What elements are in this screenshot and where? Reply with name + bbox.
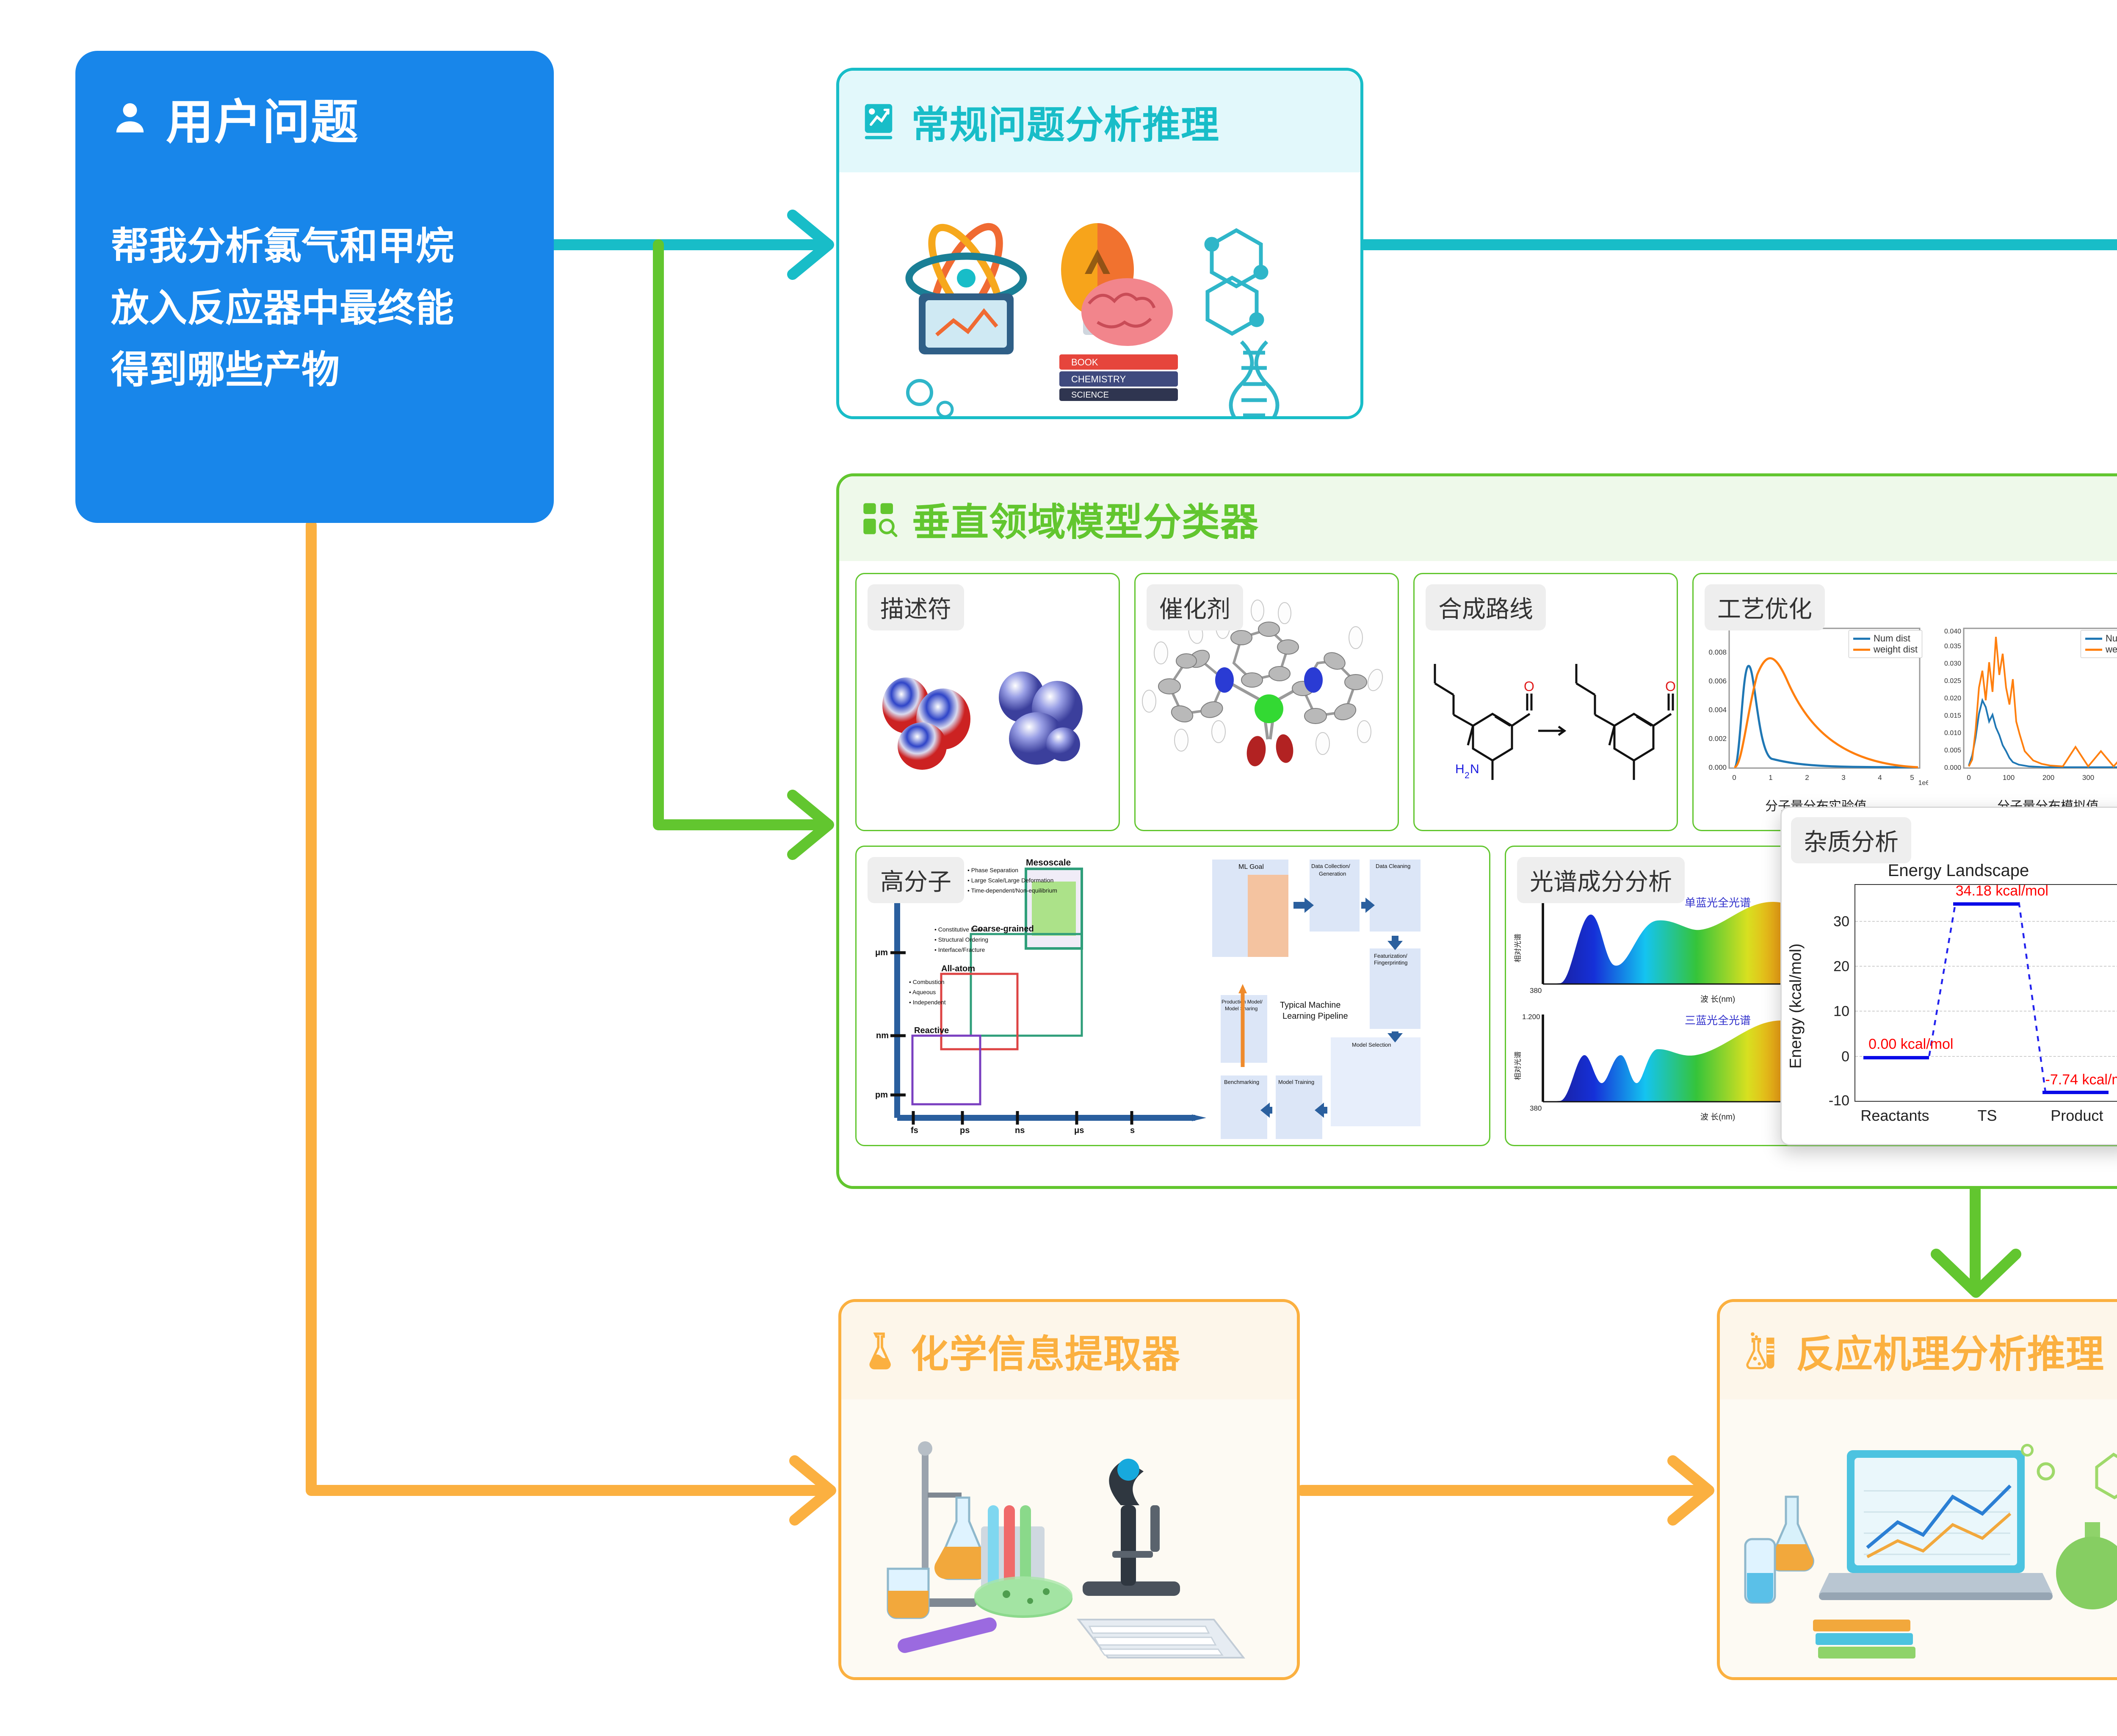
y-tick: 0 bbox=[1841, 1048, 1855, 1065]
svg-text:Fingerprinting: Fingerprinting bbox=[1374, 959, 1408, 966]
mechanism-reasoning-illustration bbox=[1720, 1399, 2117, 1677]
connector-classifier-to-mechanism bbox=[1936, 1190, 2016, 1292]
svg-text:• Constitutive Law: • Constitutive Law bbox=[934, 926, 982, 933]
energy-level-reactants bbox=[1863, 1056, 1929, 1059]
svg-text:O: O bbox=[1524, 679, 1534, 694]
spectrum-xlabel: 波 长(nm) bbox=[1700, 993, 1735, 1004]
connector-user-to-classifier bbox=[658, 245, 829, 854]
svg-text:O: O bbox=[1665, 679, 1676, 694]
panel-process-optimization-label: 工艺优化 bbox=[1705, 584, 1825, 630]
chart-mwd-simulated: 0.0000.005 0.0100.015 0.0200.025 0.0300.… bbox=[1936, 624, 2117, 814]
svg-text:300: 300 bbox=[2082, 774, 2094, 782]
user-question-title: 用户问题 bbox=[166, 84, 359, 152]
mechanism-reasoning-header: 反应机理分析推理 bbox=[1720, 1302, 2117, 1399]
svg-text:0.006: 0.006 bbox=[1708, 677, 1727, 685]
spectrum-xlabel: 波 长(nm) bbox=[1700, 1111, 1735, 1122]
svg-text:2: 2 bbox=[1805, 774, 1809, 782]
user-question-line: 得到哪些产物 bbox=[111, 340, 518, 401]
classifier-header: 垂直领域模型分类器 bbox=[839, 476, 2117, 561]
svg-text:nm: nm bbox=[876, 1031, 889, 1040]
user-question-header: 用户问题 bbox=[111, 84, 518, 152]
spectrum-xtick-min: 380 bbox=[1530, 987, 1542, 995]
svg-text:0.000: 0.000 bbox=[1708, 763, 1727, 771]
svg-text:• Interface/Fracture: • Interface/Fracture bbox=[934, 946, 985, 953]
flask-testtube-icon bbox=[1741, 1330, 1782, 1371]
energy-landscape-plot: 30 20 10 0 -10 0.00 kcal/mol 34.18 kcal/… bbox=[1854, 884, 2117, 1102]
classifier-title: 垂直领域模型分类器 bbox=[912, 491, 1259, 546]
x-tick-reactants: Reactants bbox=[1860, 1107, 1929, 1125]
svg-text:Featurization/: Featurization/ bbox=[1374, 953, 1407, 959]
svg-text:H: H bbox=[1455, 762, 1465, 776]
impurity-analysis-popup[interactable]: 杂质分析 Energy Landscape Energy (kcal/mol) … bbox=[1780, 807, 2117, 1145]
chem-extractor-title: 化学信息提取器 bbox=[911, 1323, 1180, 1378]
grid-search-icon bbox=[860, 500, 898, 537]
mechanism-reasoning-card[interactable]: 反应机理分析推理 bbox=[1717, 1299, 2117, 1680]
panel-spectral-analysis-label: 光谱成分分析 bbox=[1517, 857, 1685, 903]
svg-text:Model Selection: Model Selection bbox=[1352, 1042, 1391, 1048]
svg-text:Model Training: Model Training bbox=[1278, 1079, 1314, 1085]
panel-synthesis-route-label: 合成路线 bbox=[1426, 584, 1546, 630]
svg-text:ns: ns bbox=[1015, 1126, 1025, 1135]
user-question-text: 帮我分析氯气和甲烷 放入反应器中最终能 得到哪些产物 bbox=[111, 216, 518, 401]
spectrum-ylabel: 相对光谱 bbox=[1512, 1051, 1523, 1080]
svg-text:pm: pm bbox=[875, 1090, 888, 1100]
svg-text:1e6: 1e6 bbox=[1918, 780, 1928, 787]
spectrum-ytick-top: 1.200 bbox=[1522, 1013, 1540, 1021]
svg-text:Typical Machine: Typical Machine bbox=[1280, 1001, 1340, 1010]
svg-text:• Independent: • Independent bbox=[909, 999, 946, 1006]
svg-text:0: 0 bbox=[1732, 774, 1736, 782]
energy-label-reactants: 0.00 kcal/mol bbox=[1868, 1036, 1953, 1053]
legend-label: Num dist bbox=[2106, 633, 2117, 644]
svg-text:ML Goal: ML Goal bbox=[1238, 863, 1264, 871]
energy-landscape-ylabel: Energy (kcal/mol) bbox=[1787, 944, 1805, 1069]
svg-text:• Structural Ordering: • Structural Ordering bbox=[934, 936, 988, 943]
svg-text:BOOK: BOOK bbox=[1071, 357, 1098, 368]
svg-text:Reactive: Reactive bbox=[914, 1026, 949, 1035]
energy-level-product bbox=[2042, 1091, 2109, 1094]
svg-text:100: 100 bbox=[2003, 774, 2015, 782]
svg-text:4: 4 bbox=[1878, 774, 1882, 782]
svg-text:Data Collection/: Data Collection/ bbox=[1311, 863, 1350, 869]
svg-text:Mesoscale: Mesoscale bbox=[1026, 858, 1071, 868]
legend-label: weight dist bbox=[2106, 644, 2117, 655]
svg-text:Learning Pipeline: Learning Pipeline bbox=[1282, 1012, 1348, 1021]
legend-mwd-simulated: Num dist weight dist bbox=[2081, 630, 2117, 658]
svg-text:0.030: 0.030 bbox=[1944, 660, 1961, 667]
panel-descriptor[interactable]: 描述符 bbox=[855, 573, 1120, 831]
svg-text:s: s bbox=[1130, 1126, 1135, 1135]
svg-text:1: 1 bbox=[1769, 774, 1772, 782]
svg-text:Benchmarking: Benchmarking bbox=[1224, 1079, 1259, 1085]
svg-text:3: 3 bbox=[1841, 774, 1845, 782]
svg-text:• Aqueous: • Aqueous bbox=[909, 989, 936, 995]
panel-descriptor-label: 描述符 bbox=[868, 584, 964, 630]
svg-text:0.000: 0.000 bbox=[1944, 764, 1961, 771]
svg-text:0.005: 0.005 bbox=[1944, 747, 1961, 754]
svg-text:2: 2 bbox=[1465, 771, 1470, 780]
svg-text:fs: fs bbox=[911, 1126, 918, 1135]
svg-text:0.002: 0.002 bbox=[1708, 735, 1727, 743]
connector-user-to-extractor bbox=[311, 525, 831, 1520]
svg-text:Data Cleaning: Data Cleaning bbox=[1376, 863, 1410, 869]
svg-text:200: 200 bbox=[2042, 774, 2054, 782]
energy-landscape-title: Energy Landscape bbox=[1782, 861, 2117, 880]
general-reasoning-header: 常规问题分析推理 bbox=[839, 71, 1360, 172]
chem-extractor-header: 化学信息提取器 bbox=[841, 1302, 1297, 1399]
user-icon bbox=[111, 97, 149, 139]
spectrum-title: 单蓝光全光谱 bbox=[1685, 894, 1751, 910]
panel-catalyst-label: 催化剂 bbox=[1147, 584, 1243, 630]
svg-text:0.035: 0.035 bbox=[1944, 643, 1961, 650]
general-reasoning-title: 常规问题分析推理 bbox=[911, 94, 1219, 149]
svg-text:5: 5 bbox=[1910, 774, 1914, 782]
y-tick: 10 bbox=[1833, 1003, 1855, 1020]
x-tick-ts: TS bbox=[1977, 1107, 1997, 1125]
svg-text:SCIENCE: SCIENCE bbox=[1071, 390, 1109, 400]
flask-icon bbox=[862, 1330, 896, 1371]
svg-text:• Combustion: • Combustion bbox=[909, 979, 945, 985]
x-tick-product: Product bbox=[2051, 1107, 2103, 1125]
chem-extractor-card[interactable]: 化学信息提取器 bbox=[838, 1299, 1300, 1680]
svg-text:Generation: Generation bbox=[1319, 871, 1346, 877]
impurity-analysis-label: 杂质分析 bbox=[1791, 817, 1911, 863]
svg-text:• Large Scale/Large Deformatio: • Large Scale/Large Deformation bbox=[967, 877, 1053, 884]
svg-text:0.010: 0.010 bbox=[1944, 730, 1961, 737]
user-question-line: 帮我分析氯气和甲烷 bbox=[111, 216, 518, 278]
panel-synthesis-route[interactable]: 合成路线 H 2 bbox=[1413, 573, 1678, 831]
svg-text:0.020: 0.020 bbox=[1944, 695, 1961, 702]
svg-text:0.004: 0.004 bbox=[1708, 706, 1727, 714]
spectrum-title: 三蓝光全光谱 bbox=[1685, 1012, 1751, 1028]
connector-user-to-general bbox=[554, 215, 829, 274]
svg-text:• Time-dependent/Non-equilibri: • Time-dependent/Non-equilibrium bbox=[967, 887, 1057, 894]
svg-text:N: N bbox=[1470, 762, 1479, 776]
chem-extractor-illustration bbox=[841, 1399, 1297, 1677]
svg-text:μm: μm bbox=[875, 948, 888, 957]
legend-mwd-experimental: Num dist weight dist bbox=[1849, 630, 1922, 658]
chart-report-icon bbox=[860, 101, 897, 142]
svg-text:CHEMISTRY: CHEMISTRY bbox=[1071, 374, 1126, 384]
y-tick: -10 bbox=[1829, 1093, 1855, 1109]
svg-text:0.008: 0.008 bbox=[1708, 648, 1727, 656]
svg-text:0: 0 bbox=[1967, 774, 1971, 782]
general-reasoning-card[interactable]: 常规问题分析推理 bbox=[836, 68, 1363, 419]
svg-text:μs: μs bbox=[1074, 1126, 1084, 1135]
energy-label-ts: 34.18 kcal/mol bbox=[1956, 883, 2048, 899]
y-tick: 30 bbox=[1833, 914, 1855, 930]
legend-label: Num dist bbox=[1874, 633, 1910, 644]
panel-polymer[interactable]: 高分子 mμm nmpm fsps nsμss bbox=[855, 846, 1490, 1146]
y-tick: 20 bbox=[1833, 959, 1855, 975]
panel-process-optimization[interactable]: 工艺优化 0.0000.002 0.0040.006 bbox=[1692, 573, 2117, 831]
panel-polymer-label: 高分子 bbox=[868, 857, 964, 903]
chart-energy-landscape: Energy Landscape Energy (kcal/mol) 30 20… bbox=[1782, 859, 2117, 1142]
legend-label: weight dist bbox=[1874, 644, 1918, 655]
connector-extractor-to-mechanism bbox=[1302, 1461, 1709, 1520]
mechanism-reasoning-title: 反应机理分析推理 bbox=[1796, 1323, 2104, 1378]
user-question-card: 用户问题 帮我分析氯气和甲烷 放入反应器中最终能 得到哪些产物 bbox=[75, 51, 554, 523]
user-question-line: 放入反应器中最终能 bbox=[111, 278, 518, 340]
energy-level-ts bbox=[1953, 902, 2019, 906]
svg-text:0.040: 0.040 bbox=[1944, 628, 1961, 635]
svg-text:0.015: 0.015 bbox=[1944, 712, 1961, 719]
energy-label-product: -7.74 kcal/mol bbox=[2045, 1072, 2117, 1088]
spectrum-ylabel: 相对光谱 bbox=[1512, 934, 1523, 962]
svg-text:All-atom: All-atom bbox=[941, 964, 975, 973]
svg-text:0.025: 0.025 bbox=[1944, 677, 1961, 685]
panel-catalyst[interactable]: 催化剂 bbox=[1134, 573, 1399, 831]
general-reasoning-illustration: BOOK CHEMISTRY SCIENCE bbox=[839, 172, 1360, 419]
svg-text:• Phase Separation: • Phase Separation bbox=[967, 867, 1018, 874]
flow-diagram-canvas: .w { fill:none; stroke-width:26; stroke-… bbox=[0, 0, 2117, 1736]
chart-mwd-experimental: 0.0000.002 0.0040.006 0.008 012 345 1e6 bbox=[1704, 624, 1928, 814]
spectrum-xtick-min: 380 bbox=[1530, 1104, 1542, 1113]
svg-text:ps: ps bbox=[960, 1126, 970, 1135]
